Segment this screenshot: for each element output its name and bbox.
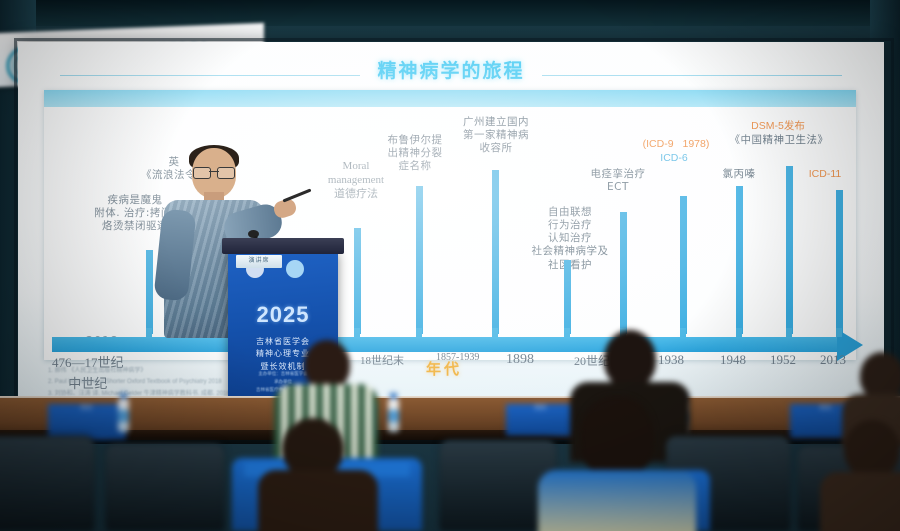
tick-bar-9 [786,166,793,334]
event-e5: 布鲁伊尔提 出精神分裂 症名称 [372,134,458,173]
timeline-axis [52,337,838,352]
axis-year-8: 2013 [820,352,846,368]
tick-bar-1 [146,250,153,334]
event-e6: 广州建立国内 第一家精神病 收容所 [448,116,544,155]
tick-bar-7 [680,196,687,334]
event-e11: ICD-6 [644,152,704,165]
tick-bar-5 [564,260,571,334]
card-top-band [44,90,856,107]
podium-year: 2025 [228,302,338,328]
chair-1 [0,436,94,531]
axis-year-6: 1948 [720,352,746,368]
tick-bar-3 [416,186,423,334]
event-e13: DSM-5发布 [730,120,826,133]
event-e12: 氯丙嗪 [704,168,774,181]
chair-2 [106,444,224,531]
tick-bar-4 [492,170,499,334]
event-e15: ICD-11 [792,168,858,181]
tick-bar-10 [836,190,843,334]
tick-bar-2 [354,228,361,334]
axis-year-5: 1938 [658,352,684,368]
cohost-logo-icon [286,260,304,278]
axis-year-3: 1898 [506,352,534,368]
desk-name-card-3: 姓名 [506,404,576,436]
event-e10: (ICD-9 1978) [624,138,728,151]
podium-desktop [222,238,344,254]
speaker-nameplate: 演讲席 [236,255,282,268]
tick-bar-6 [620,212,627,334]
slide-surface: 精神病学的旅程 英 《流浪法令》 疾病是魔鬼 附体. 治疗:拷问, 烙烫禁闭驱逐… [18,42,884,400]
title-rule-right [542,75,842,76]
event-e14: 《中国精神卫生法》 [714,134,844,147]
eyeglasses-icon [193,167,235,177]
projection-screen: 精神病学的旅程 英 《流浪法令》 疾病是魔鬼 附体. 治疗:拷问, 烙烫禁闭驱逐… [18,42,884,400]
axis-year-7: 1952 [770,352,796,368]
ceiling-strip [0,0,900,26]
slide-title: 精神病学的旅程 [18,56,884,83]
desk-name-card-1: 姓名 [48,404,126,440]
conference-photo-scene: 浙江大学医学院附属精神卫生中心 杭州市第七人民医院 AFFILIATED MEN… [0,0,900,531]
tick-bar-8 [736,186,743,334]
title-rule-left [60,75,360,76]
water-bottle-1 [118,398,129,432]
water-bottle-2 [388,398,399,432]
event-e9: 电痉挛治疗 ECT [572,168,664,194]
